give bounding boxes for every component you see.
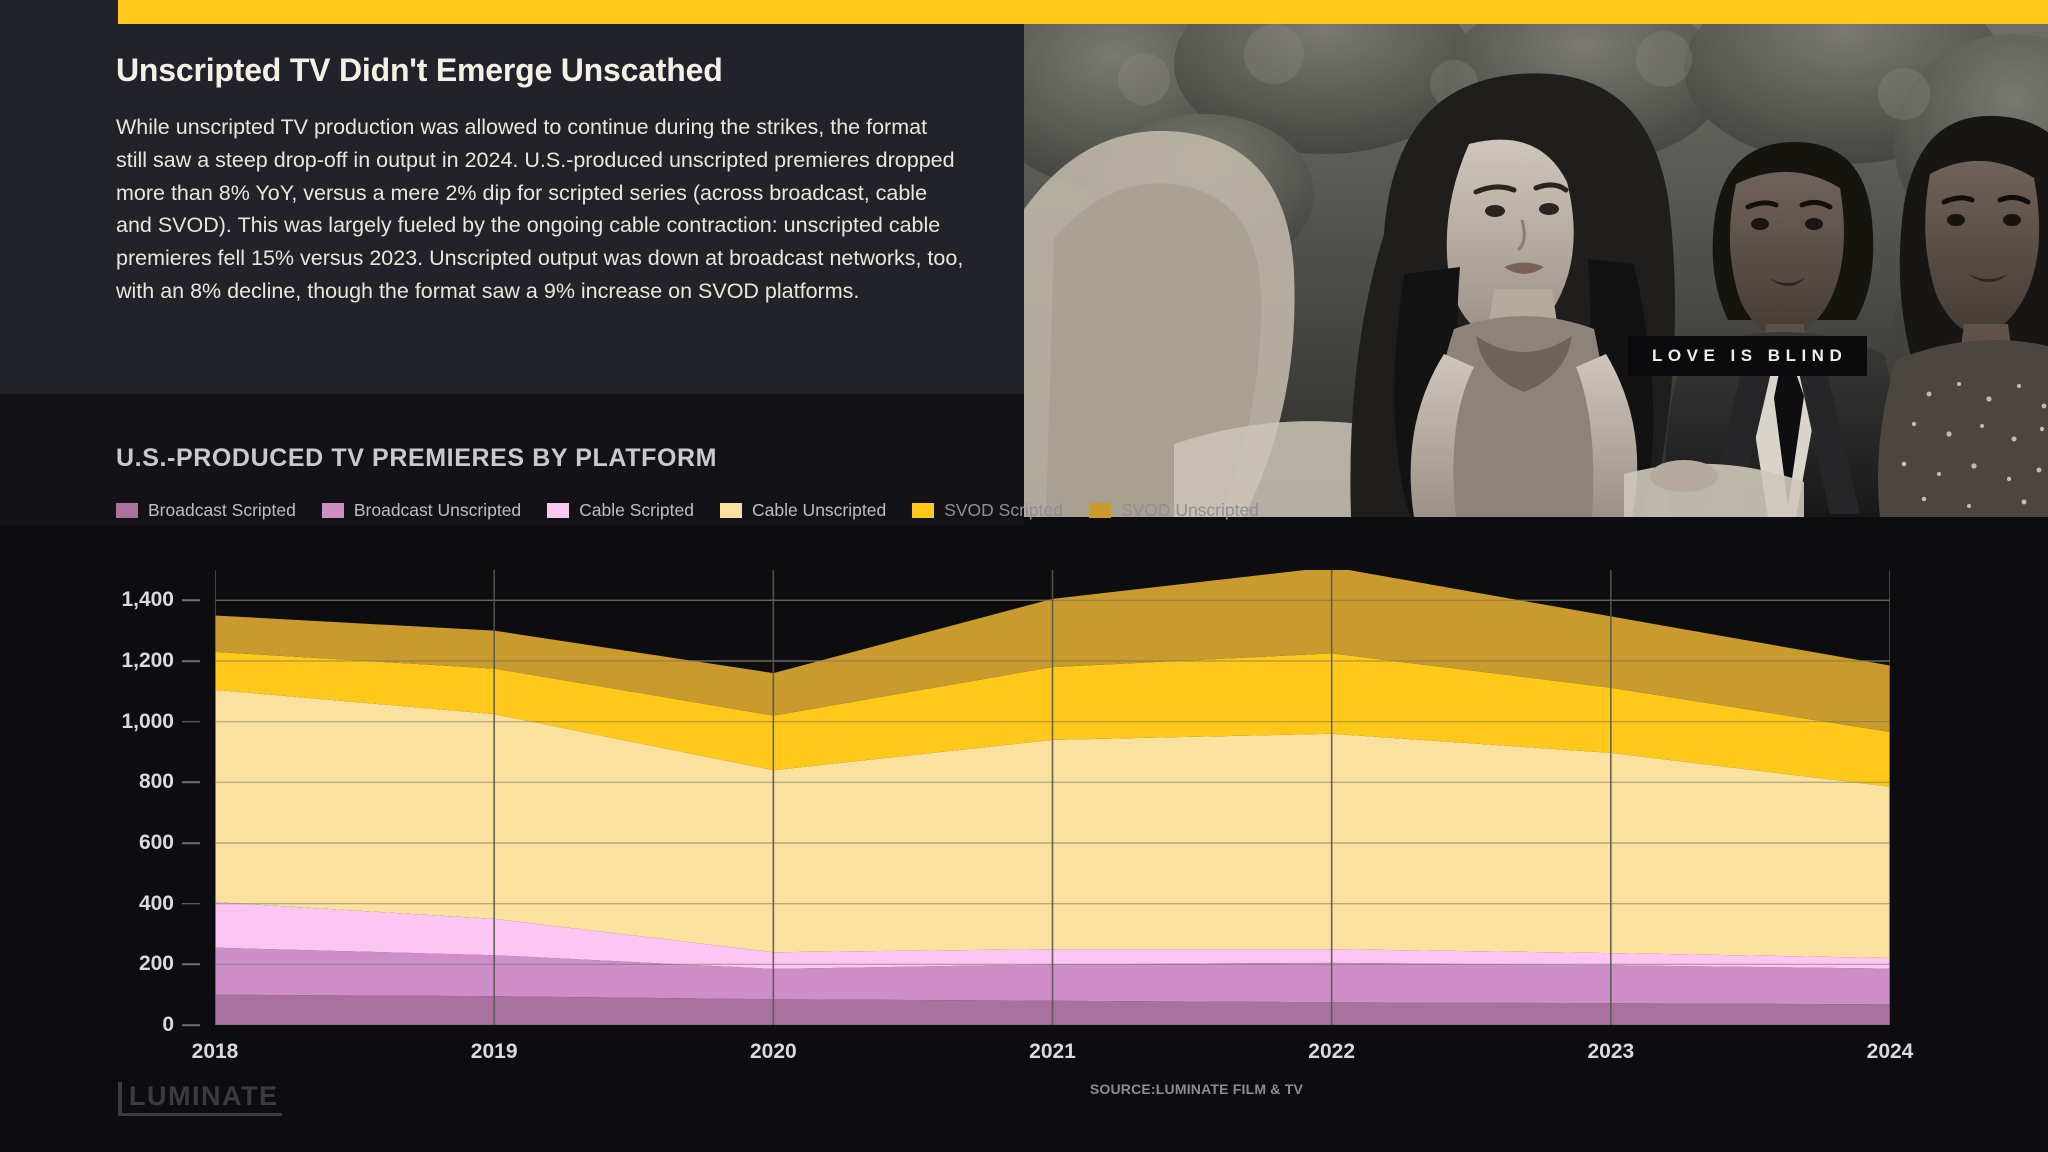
y-axis-tick-mark: [182, 721, 200, 723]
chart-title: U.S.-PRODUCED TV PREMIERES BY PLATFORM: [116, 444, 1024, 473]
x-axis-tick-label: 2019: [471, 1040, 518, 1064]
y-axis-labels: 02004006008001,0001,2001,400: [95, 570, 200, 1025]
legend-label: SVOD Unscripted: [1121, 500, 1259, 521]
y-axis-tick-label: 1,400: [121, 588, 174, 612]
y-axis-tick-label: 200: [139, 952, 174, 976]
y-axis-tick-label: 1,000: [121, 710, 174, 734]
article-panel: Unscripted TV Didn't Emerge Unscathed Wh…: [0, 24, 1024, 394]
legend-item-cable-scripted[interactable]: Cable Scripted: [547, 500, 694, 521]
page-title: Unscripted TV Didn't Emerge Unscathed: [116, 52, 964, 89]
y-axis-tick-label: 400: [139, 892, 174, 916]
y-axis-tick-label: 800: [139, 770, 174, 794]
y-axis-tick-mark: [182, 660, 200, 662]
x-axis-tick-label: 2020: [750, 1040, 797, 1064]
legend-item-broadcast-unscripted[interactable]: Broadcast Unscripted: [322, 500, 521, 521]
x-axis-tick-label: 2022: [1308, 1040, 1355, 1064]
article-body: While unscripted TV production was allow…: [116, 111, 964, 308]
y-axis-tick-label: 1,200: [121, 649, 174, 673]
y-axis-tick-mark: [182, 964, 200, 966]
y-axis-tick-mark: [182, 782, 200, 784]
y-axis-tick-mark: [182, 903, 200, 905]
y-axis-tick-mark: [182, 842, 200, 844]
x-axis-tick-label: 2018: [192, 1040, 239, 1064]
legend-label: Cable Scripted: [579, 500, 694, 521]
y-axis-tick-mark: [182, 1024, 200, 1026]
chart-area: 02004006008001,0001,2001,400 20182019202…: [0, 525, 2048, 1152]
luminate-logo: LUMINATE: [118, 1082, 282, 1116]
hero-photo: [1024, 24, 2048, 517]
infographic-root: LOVE IS BLIND Unscripted TV Didn't Emerg…: [0, 0, 2048, 1152]
x-axis-labels: 2018201920202021202220232024: [215, 1040, 1890, 1080]
legend-item-broadcast-scripted[interactable]: Broadcast Scripted: [116, 500, 296, 521]
legend-label: Broadcast Scripted: [148, 500, 296, 521]
legend-label: SVOD Scripted: [944, 500, 1063, 521]
top-accent-bar: [118, 0, 2048, 24]
top-bar-left-filler: [0, 0, 118, 24]
legend-swatch-icon: [116, 503, 138, 518]
x-axis-tick-label: 2021: [1029, 1040, 1076, 1064]
legend-swatch-icon: [912, 503, 934, 518]
hero-photo-illustration: [1024, 24, 2048, 517]
x-axis-tick-label: 2023: [1587, 1040, 1634, 1064]
stacked-area-svg: [215, 570, 1890, 1025]
show-title-tag: LOVE IS BLIND: [1628, 336, 1867, 376]
legend-swatch-icon: [322, 503, 344, 518]
x-axis-tick-label: 2024: [1867, 1040, 1914, 1064]
legend-item-cable-unscripted[interactable]: Cable Unscripted: [720, 500, 886, 521]
chart-legend: Broadcast ScriptedBroadcast UnscriptedCa…: [116, 500, 1285, 521]
legend-label: Cable Unscripted: [752, 500, 886, 521]
source-note: SOURCE:LUMINATE FILM & TV: [1090, 1081, 1303, 1097]
chart-plot: [215, 570, 1890, 1025]
legend-swatch-icon: [1089, 503, 1111, 518]
legend-item-svod-unscripted[interactable]: SVOD Unscripted: [1089, 500, 1259, 521]
y-axis-tick-label: 600: [139, 831, 174, 855]
legend-swatch-icon: [720, 503, 742, 518]
legend-item-svod-scripted[interactable]: SVOD Scripted: [912, 500, 1063, 521]
legend-label: Broadcast Unscripted: [354, 500, 521, 521]
y-axis-tick-label: 0: [162, 1013, 174, 1037]
y-axis-tick-mark: [182, 600, 200, 602]
legend-swatch-icon: [547, 503, 569, 518]
